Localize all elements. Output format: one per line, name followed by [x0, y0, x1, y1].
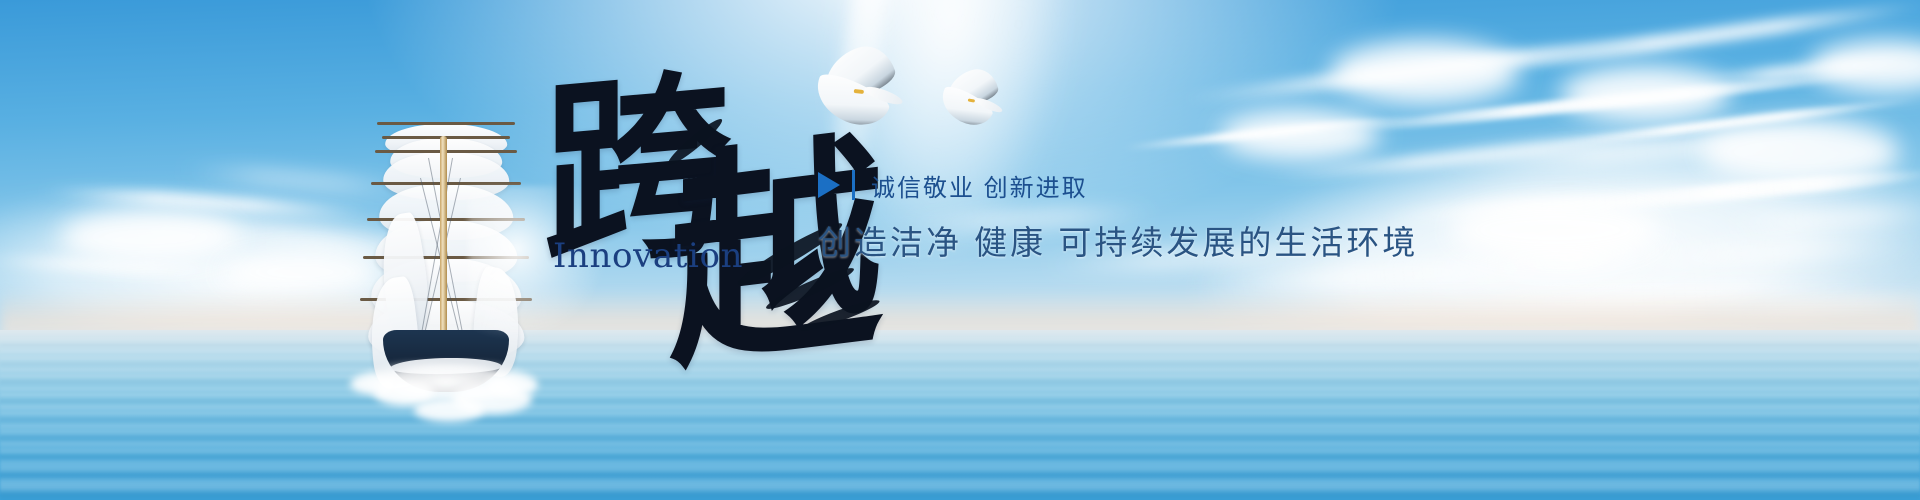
vertical-bar-divider: [852, 170, 855, 200]
tagline-primary-row: 诚信敬业 创新进取: [818, 168, 1418, 202]
cloud-puff: [1560, 66, 1730, 122]
water-ripple: [0, 344, 1920, 346]
water-ripple: [0, 485, 1920, 490]
water-ripple: [0, 363, 1920, 365]
cloud-puff: [60, 210, 240, 264]
water-ripple: [0, 442, 1920, 446]
cloud-puff: [1450, 200, 1660, 260]
subtitle-innovation: Innovation: [553, 236, 743, 276]
water-ripple: [0, 449, 1920, 453]
water-ripple: [0, 393, 1920, 396]
tagline-primary: 诚信敬业 创新进取: [871, 168, 1088, 203]
water-ripple: [0, 473, 1920, 478]
tagline-secondary: 创造洁净 健康 可持续发展的生活环境: [818, 216, 1418, 264]
water-ripple: [0, 418, 1920, 422]
water-ripple: [0, 381, 1920, 384]
cloud-puff: [1700, 120, 1900, 184]
water-ripple: [0, 424, 1920, 428]
water-ripple: [0, 350, 1920, 352]
water-ripple: [0, 461, 1920, 465]
tagline-block: 诚信敬业 创新进取 创造洁净 健康 可持续发展的生活环境: [818, 168, 1418, 264]
water-ripple: [0, 406, 1920, 409]
water-ripple: [0, 338, 1920, 340]
cloud-puff: [1220, 110, 1380, 160]
spray-puff: [486, 374, 538, 396]
water-ripple: [0, 492, 1920, 497]
water-ripple: [0, 369, 1920, 372]
water-ripple: [0, 455, 1920, 459]
water-ripple: [0, 467, 1920, 472]
water-ripple: [0, 375, 1920, 378]
water-ripple: [0, 356, 1920, 358]
water-ripple: [0, 399, 1920, 402]
spray-puff: [350, 374, 396, 394]
sailing-ship: [356, 118, 536, 388]
sea-surface: [0, 330, 1920, 500]
cloud-puff: [1330, 40, 1520, 104]
water-ripple: [0, 387, 1920, 390]
seagull-large-icon: [808, 43, 957, 140]
ship-yard: [377, 122, 515, 125]
banner-hero: 跨 越 Innovation 诚信敬业 创新进取 创造洁净 健康 可持续发展的生…: [0, 0, 1920, 500]
spray-puff: [414, 398, 484, 422]
water-ripple: [0, 479, 1920, 484]
water-ripple: [0, 436, 1920, 440]
water-ripple: [0, 430, 1920, 434]
water-ripple: [0, 412, 1920, 415]
play-triangle-icon: [818, 172, 840, 198]
